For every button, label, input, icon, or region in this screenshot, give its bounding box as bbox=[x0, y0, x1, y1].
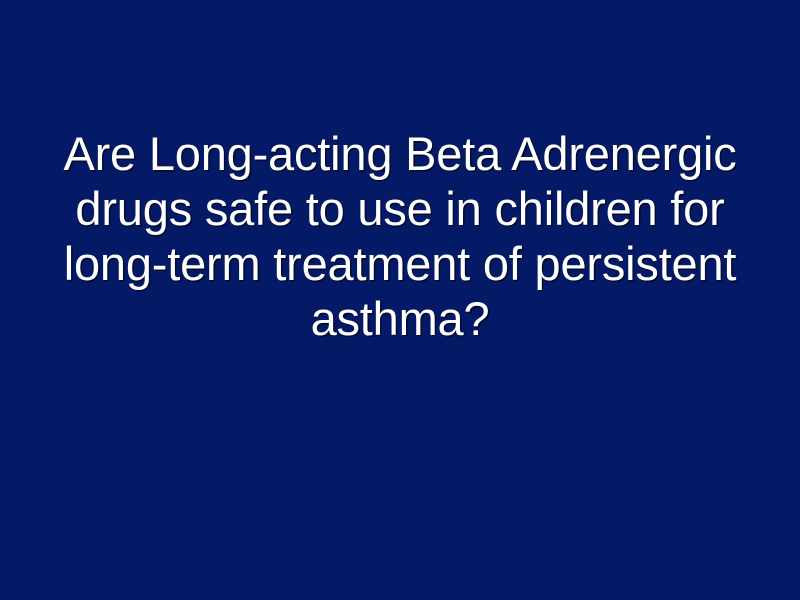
slide-title: Are Long-acting Beta Adrenergic drugs sa… bbox=[40, 126, 760, 346]
title-placeholder[interactable]: Are Long-acting Beta Adrenergic drugs sa… bbox=[40, 126, 760, 376]
slide-canvas: Are Long-acting Beta Adrenergic drugs sa… bbox=[0, 0, 800, 600]
